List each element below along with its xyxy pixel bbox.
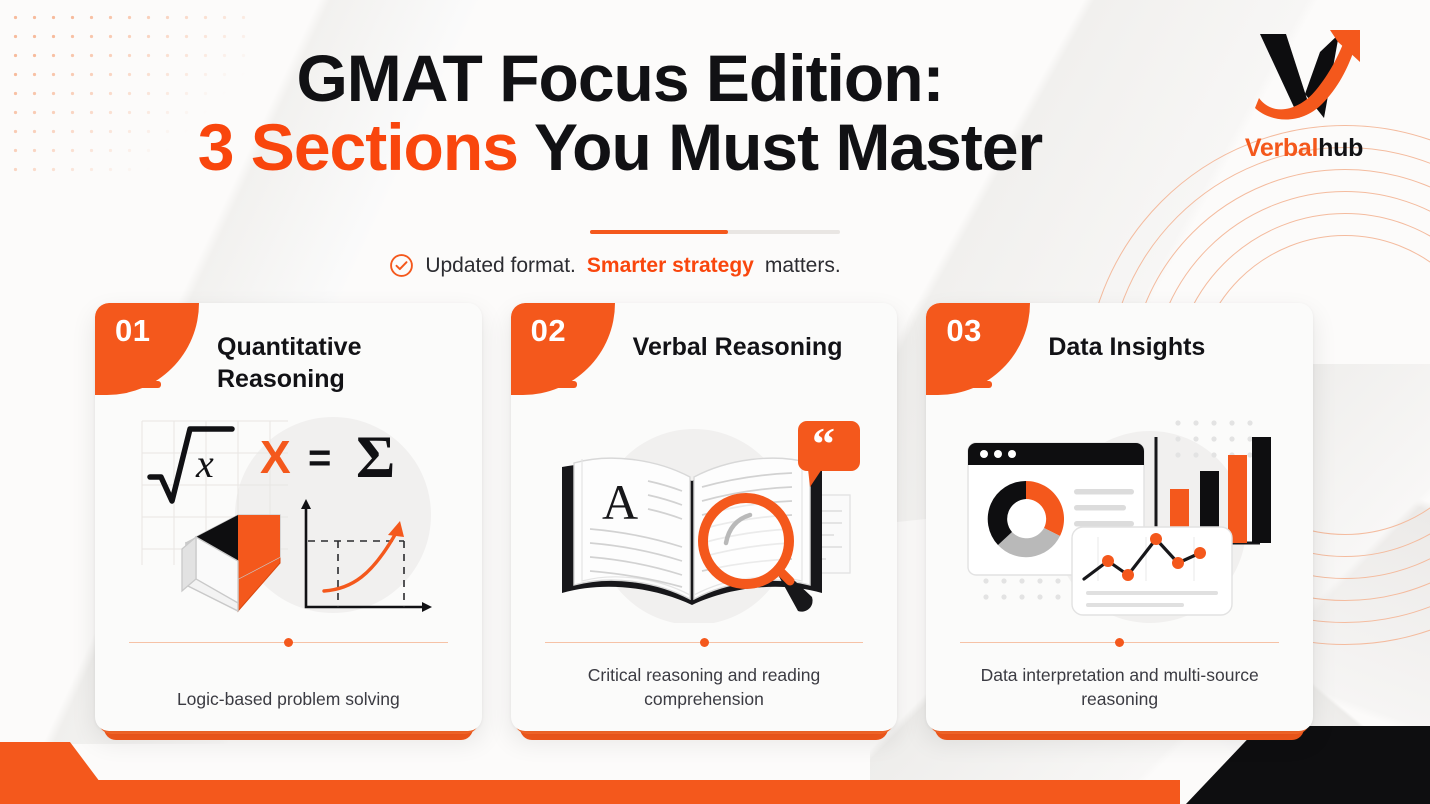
divider-dot (284, 638, 293, 647)
card-caption: Logic-based problem solving (115, 687, 462, 711)
infographic-canvas: Verbalhub GMAT Focus Edition: 3 Sections… (0, 0, 1430, 804)
title-you-must-master: You Must Master (518, 110, 1042, 184)
card-caption: Data interpretation and multi-source rea… (946, 663, 1293, 711)
circle-check-icon (389, 253, 414, 278)
logo-word-verbal: Verbal (1245, 134, 1318, 162)
card-badge-dash (541, 381, 577, 388)
section-cards-row: 01 Quantitative Reasoning x X (95, 303, 1313, 731)
svg-text:=: = (308, 436, 331, 480)
page-title-line-2: 3 Sections You Must Master (0, 113, 1240, 182)
card-divider (129, 638, 448, 647)
svg-text:Σ: Σ (356, 424, 395, 490)
card-quantitative-reasoning[interactable]: 01 Quantitative Reasoning x X (95, 303, 482, 731)
card-badge-dash (125, 381, 161, 388)
brand-logo[interactable]: Verbalhub (1224, 28, 1384, 163)
card-title: Data Insights (1048, 331, 1297, 363)
illustration-open-book-magnifier-quote: A (511, 415, 898, 627)
illustration-dashboard-charts (926, 415, 1313, 627)
title-focus-edition: Focus Edition: (482, 41, 944, 115)
title-3-sections: 3 Sections (198, 110, 518, 184)
svg-text:A: A (602, 474, 638, 530)
subtitle-text-1: Updated format. (425, 254, 576, 278)
card-data-insights[interactable]: 03 Data Insights (926, 303, 1313, 731)
card-caption: Critical reasoning and reading comprehen… (531, 663, 878, 711)
svg-text:“: “ (812, 418, 835, 469)
page-title-line-1: GMAT Focus Edition: (0, 44, 1240, 113)
svg-text:x: x (195, 441, 214, 486)
logo-word-hub: hub (1318, 134, 1363, 162)
subtitle-text-2: matters. (765, 254, 841, 278)
title-gmat: GMAT (296, 41, 481, 115)
verbalhub-v-arrow-logo-icon (1242, 28, 1367, 124)
card-title: Verbal Reasoning (633, 331, 882, 363)
svg-text:X: X (260, 431, 291, 483)
subtitle-row: Updated format. Smarter strategy matters… (0, 253, 1230, 278)
divider-dot (700, 638, 709, 647)
illustration-math-symbols-cube-growth-chart: x X = Σ (95, 415, 482, 627)
logo-wordmark: Verbalhub (1224, 134, 1384, 163)
card-divider (545, 638, 864, 647)
header-block: GMAT Focus Edition: 3 Sections You Must … (0, 44, 1240, 181)
card-divider (960, 638, 1279, 647)
divider-dot (1115, 638, 1124, 647)
card-verbal-reasoning[interactable]: 02 Verbal Reasoning (511, 303, 898, 731)
subtitle-text-highlight: Smarter strategy (587, 254, 754, 278)
bottom-orange-band-overlay (0, 742, 1180, 804)
card-title: Quantitative Reasoning (217, 331, 466, 395)
title-accent-bar (590, 230, 840, 234)
card-badge-dash (956, 381, 992, 388)
